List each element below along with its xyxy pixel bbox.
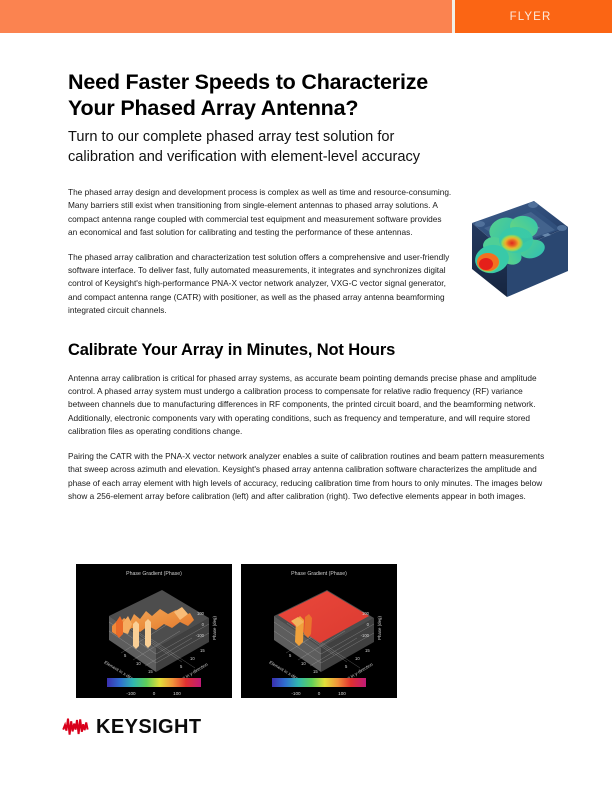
intro-text-column: The phased array design and development …	[68, 186, 453, 318]
colorbar-tick-3: 100	[338, 691, 346, 696]
page-subtitle-line-2: calibration and verification with elemen…	[68, 148, 550, 168]
z-tick-1: 100	[197, 611, 205, 616]
defective-element-spike-2	[145, 619, 151, 648]
z-tick-1: 100	[362, 611, 370, 616]
figure-title: Phase Gradient (Phase)	[126, 571, 182, 577]
y-tick-2: 10	[355, 656, 360, 661]
keysight-wordmark: KEYSIGHT	[96, 717, 201, 737]
page-subtitle: Turn to our complete phased array test s…	[68, 128, 550, 167]
colorbar-tick-2: 0	[153, 691, 156, 696]
colorbar-tick-2: 0	[318, 691, 321, 696]
intro-paragraph-1: The phased array design and development …	[68, 186, 453, 240]
keysight-logo: KEYSIGHT	[62, 716, 201, 738]
figure-after-calibration: Phase Gradient (Phase)	[241, 564, 397, 698]
page-title-line-2: Your Phased Array Antenna?	[68, 95, 550, 121]
y-tick-3: 15	[365, 648, 370, 653]
antenna-module-illustration	[458, 193, 574, 317]
intro-paragraph-2: The phased array calibration and charact…	[68, 251, 453, 318]
defective-element-spike-1	[133, 621, 139, 649]
figure-pair: Phase Gradient (Phase)	[76, 564, 398, 698]
surface-plot-after: Phase Gradient (Phase)	[241, 564, 397, 698]
x-tick-2: 10	[136, 661, 141, 666]
colorbar-tick-1: -100	[291, 691, 301, 696]
product-photo-antenna-module	[458, 193, 574, 317]
section-paragraph-1: Antenna array calibration is critical fo…	[68, 372, 550, 439]
section-text-column: Antenna array calibration is critical fo…	[68, 372, 550, 504]
z-axis-label: Phase (deg)	[212, 616, 217, 640]
z-axis-label: Phase (deg)	[377, 616, 382, 640]
figure-before-calibration: Phase Gradient (Phase)	[76, 564, 232, 698]
page-subtitle-line-1: Turn to our complete phased array test s…	[68, 128, 550, 148]
z-tick-3: -100	[361, 633, 370, 638]
x-tick-3: 15	[148, 669, 153, 674]
colorbar-tick-1: -100	[126, 691, 136, 696]
z-tick-3: -100	[196, 633, 205, 638]
y-tick-2: 10	[190, 656, 195, 661]
section-heading-calibrate: Calibrate Your Array in Minutes, Not Hou…	[68, 318, 550, 360]
keysight-waveform-icon	[62, 716, 90, 738]
colorbar-tick-3: 100	[173, 691, 181, 696]
y-tick-3: 15	[200, 648, 205, 653]
surface-plot-before: Phase Gradient (Phase)	[76, 564, 232, 698]
section-paragraph-2: Pairing the CATR with the PNA-X vector n…	[68, 450, 550, 504]
page-title: Need Faster Speeds to Characterize Your …	[68, 0, 550, 121]
x-tick-3: 15	[313, 669, 318, 674]
page-title-line-1: Need Faster Speeds to Characterize	[68, 69, 550, 95]
figure-title: Phase Gradient (Phase)	[291, 571, 347, 577]
x-tick-2: 10	[301, 661, 306, 666]
